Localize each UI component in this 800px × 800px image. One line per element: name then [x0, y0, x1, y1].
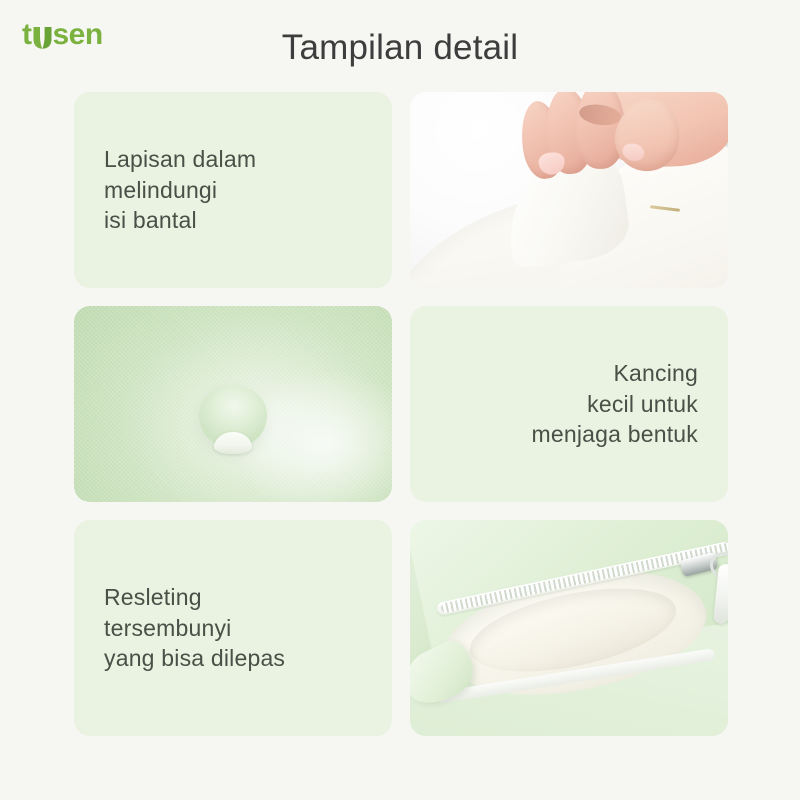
- photo-zipper-open: [410, 520, 728, 736]
- caption-small-button: Kancing kecil untuk menjaga bentuk: [532, 358, 698, 450]
- photo-hand-lifting-fabric: [410, 92, 728, 288]
- hand-illustration: [518, 92, 728, 210]
- caption-hidden-zipper: Resleting tersembunyi yang bisa dilepas: [104, 582, 285, 674]
- photo-green-pillow-button: [74, 306, 392, 502]
- card-feature-hidden-zipper: Resleting tersembunyi yang bisa dilepas: [74, 520, 392, 736]
- page-title: Tampilan detail: [0, 28, 800, 68]
- caption-inner-layer: Lapisan dalam melindungi isi bantal: [104, 144, 256, 236]
- feature-grid: Lapisan dalam melindungi isi bantal Kanc…: [74, 92, 728, 736]
- card-feature-inner-layer: Lapisan dalam melindungi isi bantal: [74, 92, 392, 288]
- card-feature-small-button: Kancing kecil untuk menjaga bentuk: [410, 306, 728, 502]
